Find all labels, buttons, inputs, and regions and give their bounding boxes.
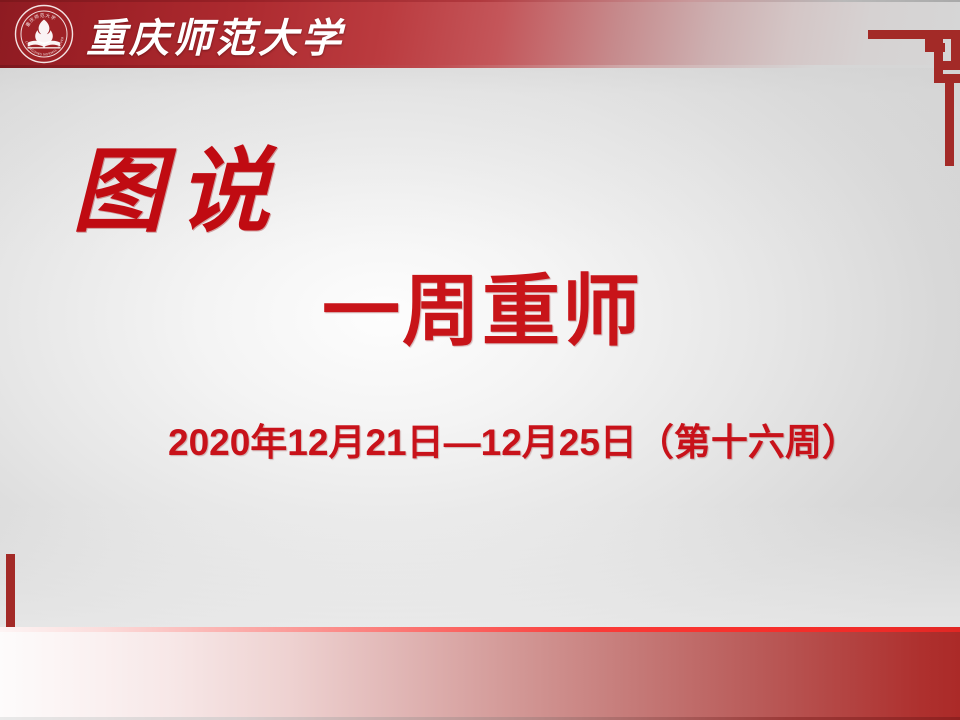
bottom-gradient-band: [0, 632, 960, 720]
subtitle-date-range: 2020年12月21日—12月25日（第十六周）: [168, 412, 859, 466]
page-title-line2: 一周重师: [322, 272, 642, 350]
header-top-hairline: [0, 0, 960, 2]
university-name: 重庆师范大学: [86, 8, 344, 62]
page-title-line1: 图说: [72, 142, 284, 241]
university-crest-icon: 重庆师范大学 CHONGQING NORMAL UNIVERSITY: [14, 4, 74, 64]
slide-background-tint: [0, 0, 960, 720]
meander-corner-icon-top-right: [868, 8, 960, 168]
presentation-slide: 重庆师范大学 CHONGQING NORMAL UNIVERSITY 重庆师范大…: [0, 0, 960, 720]
